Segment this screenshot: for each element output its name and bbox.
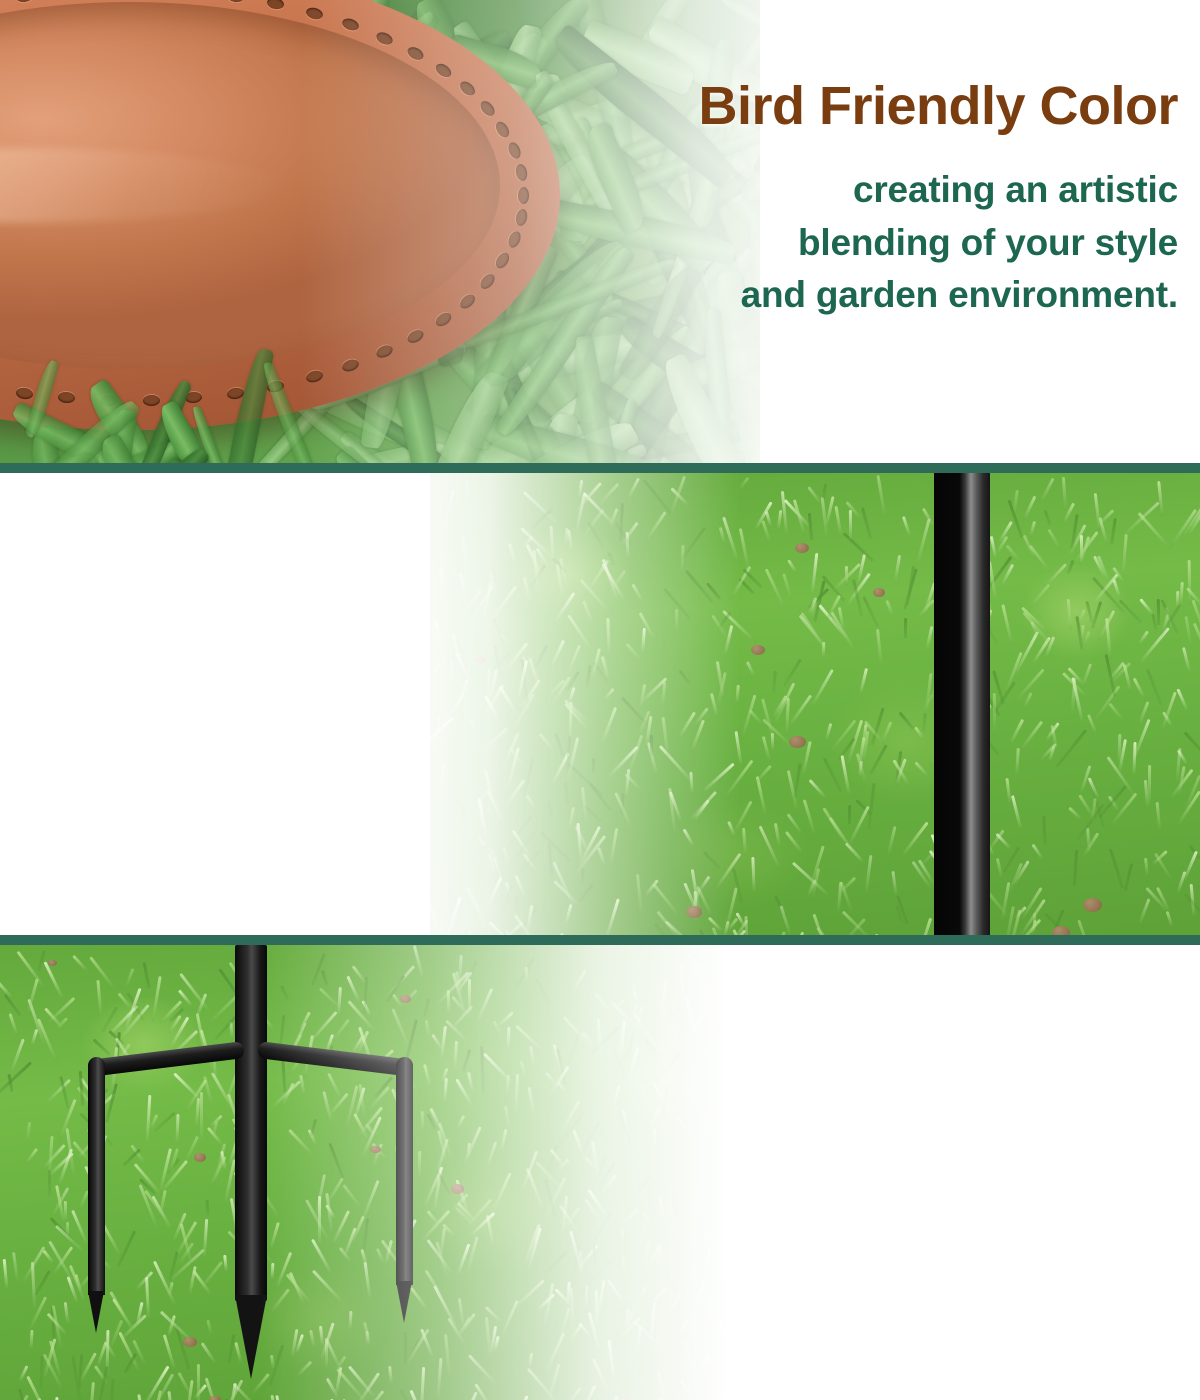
grass-blade: [526, 795, 538, 810]
ground-pebble: [1083, 898, 1102, 912]
grass-blade: [1067, 599, 1073, 629]
grass-blade: [2, 1394, 29, 1400]
grass-blade: [590, 648, 601, 681]
grass-blade: [925, 626, 933, 649]
grass-blade: [517, 1396, 529, 1400]
panel-1-text-block: Bird Friendly Color creating an artistic…: [578, 78, 1178, 322]
grass-blade: [529, 1046, 536, 1068]
grass-blade: [1019, 721, 1042, 751]
grass-blade: [683, 829, 695, 847]
grass-blade: [515, 897, 518, 912]
grass-blade: [10, 1038, 25, 1071]
grass-blade: [1110, 518, 1117, 544]
grass-blade: [638, 1174, 652, 1191]
grass-blade: [876, 629, 883, 667]
grass-blade: [773, 683, 795, 724]
grass-blade: [544, 1332, 565, 1374]
grass-blade: [1177, 871, 1187, 893]
grass-blade: [677, 712, 696, 740]
grass-blade: [638, 1222, 645, 1251]
grass-with-pole-photo: [430, 473, 1200, 935]
grass-blade: [771, 733, 774, 750]
product-infographic: Bird Friendly Color creating an artistic…: [0, 0, 1200, 1400]
grass-blade: [595, 1290, 598, 1331]
ground-pebble: [686, 906, 702, 918]
grass-blade: [675, 609, 678, 633]
grass-blade: [528, 1353, 533, 1368]
grass-blade: [599, 1130, 611, 1148]
grass-blade: [822, 642, 826, 658]
grass-blade: [580, 509, 604, 540]
grass-blade: [865, 855, 873, 893]
grass-blade: [1185, 616, 1193, 647]
grass-blade: [917, 518, 931, 563]
grass-blade: [486, 876, 502, 906]
lawn-grass-background: [430, 473, 1200, 935]
grass-blade: [692, 1281, 705, 1320]
grass-blade: [475, 631, 478, 653]
grass-blade: [1056, 729, 1087, 767]
grass-blade: [543, 1283, 555, 1328]
panel-1-body: creating an artistic blending of your st…: [578, 164, 1178, 322]
grass-blade: [885, 600, 893, 615]
grass-blade: [742, 828, 747, 855]
grass-blade: [1154, 853, 1173, 881]
grass-blade: [1138, 631, 1149, 645]
grass-blade: [801, 741, 811, 777]
prong-left-tip: [88, 1291, 104, 1333]
grass-blade: [1001, 604, 1013, 646]
bowl-drain-hole: [143, 395, 160, 406]
grass-blade: [770, 1040, 780, 1060]
grass-blade: [782, 573, 793, 599]
grass-blade: [1091, 601, 1102, 629]
grass-blade: [559, 1307, 571, 1340]
grass-blade: [685, 1090, 715, 1124]
divider-top: [0, 463, 1200, 473]
grass-blade: [777, 510, 783, 530]
grass-blade: [705, 1049, 720, 1065]
grass-blade: [597, 1019, 602, 1056]
grass-blade: [1176, 790, 1200, 826]
grass-blade: [487, 790, 508, 828]
grass-blade: [449, 888, 453, 911]
grass-blade: [1140, 598, 1154, 615]
grass-blade: [790, 953, 800, 971]
grass-blade: [813, 914, 829, 935]
grass-blade: [863, 596, 880, 627]
grass-blade: [887, 826, 897, 856]
grass-blade: [669, 476, 686, 517]
grass-blade: [677, 1117, 703, 1149]
grass-blade: [649, 1286, 668, 1304]
grass-blade: [825, 496, 835, 528]
grass-blade: [922, 713, 926, 731]
grass-blade: [528, 1087, 536, 1116]
grass-blade: [748, 1003, 766, 1038]
grass-blade: [835, 506, 843, 537]
birdbath-bowl-graphic: [0, 0, 560, 430]
grass-blade: [1083, 631, 1091, 645]
grass-blade: [581, 867, 585, 883]
grass-blade: [1182, 647, 1191, 672]
grass-blade: [755, 765, 772, 783]
grass-blade: [520, 1061, 528, 1079]
grass-blade: [1040, 477, 1054, 501]
grass-blade: [990, 536, 997, 559]
grass-blade: [847, 805, 850, 824]
grass-blade: [469, 717, 477, 735]
grass-blade: [1132, 741, 1136, 774]
grass-blade: [1081, 664, 1092, 688]
grass-blade: [778, 1003, 789, 1038]
grass-blade: [789, 695, 812, 726]
grass-blade: [531, 509, 552, 529]
grass-blade: [1105, 618, 1112, 659]
grass-blade: [703, 851, 720, 869]
grass-blade: [894, 555, 901, 581]
grass-blade: [785, 831, 804, 854]
grass-blade: [442, 694, 465, 725]
grass-blade: [772, 671, 777, 692]
grass-blade: [607, 551, 615, 565]
grass-blade: [1080, 535, 1083, 563]
ground-pebble: [1052, 926, 1070, 935]
grass-blade: [849, 510, 852, 540]
grass-blade: [1048, 529, 1062, 550]
grass-blade: [442, 489, 455, 534]
grass-blade: [597, 483, 619, 506]
grass-blade: [526, 905, 534, 933]
grass-blade: [718, 527, 725, 545]
grass-blade: [1066, 560, 1074, 575]
grass-blade: [642, 628, 647, 653]
grass-blade: [808, 779, 826, 798]
grass-blade: [1133, 677, 1146, 699]
grass-blade: [825, 723, 833, 741]
grass-blade: [641, 1084, 658, 1122]
grass-blade: [1157, 481, 1164, 516]
grass-blade: [1015, 748, 1020, 775]
grass-blade: [1121, 534, 1128, 578]
prong-right-arm: [257, 1041, 410, 1076]
ground-pebble: [795, 543, 809, 553]
grass-blade: [658, 745, 691, 781]
grass-blade: [1062, 477, 1067, 511]
grass-blade: [842, 911, 871, 935]
grass-blade: [737, 476, 749, 490]
panel-1-body-line-2: blending of your style: [578, 217, 1178, 270]
grass-blade: [466, 842, 490, 866]
grass-blade: [489, 1172, 511, 1217]
grass-blade: [690, 719, 705, 752]
grass-blade: [995, 833, 1011, 850]
grass-blade: [548, 843, 554, 877]
prong-center-tip: [235, 1295, 267, 1379]
grass-blade: [1108, 703, 1124, 722]
grass-blade: [622, 1110, 630, 1134]
grass-blade: [638, 1286, 647, 1301]
grass-blade: [787, 559, 798, 573]
feature-panel-high-quality: High Quality heavy duty steel stake make…: [0, 473, 1200, 935]
prong-right-leg: [396, 1057, 413, 1285]
grass-blade: [730, 1078, 737, 1095]
grass-blade: [746, 661, 755, 676]
grass-blade: [681, 527, 706, 560]
grass-blade: [535, 978, 551, 1007]
grass-blade: [449, 740, 459, 770]
grass-blade: [1139, 899, 1151, 924]
prong-center-shaft: [235, 945, 267, 1301]
grass-blade: [547, 1252, 567, 1274]
grass-blade: [718, 1130, 750, 1165]
grass-blade: [1093, 685, 1121, 722]
grass-blade: [540, 831, 571, 862]
grass-blade: [547, 801, 554, 819]
grass-blade: [721, 1299, 745, 1338]
grass-blade: [582, 600, 594, 626]
grass-blade: [1156, 599, 1160, 625]
grass-blade: [708, 1395, 728, 1400]
grass-blade: [3, 994, 21, 1016]
grass-blade: [657, 1372, 670, 1400]
grass-blade: [1193, 622, 1200, 652]
grass-blade: [724, 978, 735, 991]
grass-blade: [901, 822, 929, 858]
ground-pebble: [873, 588, 885, 597]
grass-blade: [609, 828, 618, 867]
grass-blade: [508, 543, 517, 565]
grass-blade: [1124, 863, 1133, 891]
prong-right-tip: [396, 1281, 412, 1323]
grass-blade: [787, 814, 803, 834]
grass-blade: [606, 618, 610, 658]
grass-blade: [579, 883, 594, 902]
grass-blade: [876, 475, 886, 518]
grass-blade: [811, 669, 834, 706]
ground-pebble: [751, 645, 766, 656]
grass-blade: [915, 917, 932, 935]
prong-left-arm: [92, 1041, 245, 1076]
grass-blade: [1023, 496, 1037, 521]
grass-blade: [430, 662, 441, 685]
grass-blade: [1138, 512, 1172, 550]
grass-blade: [473, 779, 477, 794]
grass-blade: [599, 1174, 618, 1198]
grass-blade: [678, 670, 690, 685]
grass-blade: [439, 568, 444, 600]
grass-blade: [738, 1020, 744, 1058]
grass-blade: [703, 1298, 714, 1340]
grass-blade: [807, 486, 822, 504]
grass-blade: [822, 484, 827, 500]
grass-blade: [499, 1129, 507, 1153]
grass-blade: [793, 499, 806, 535]
grass-blade: [448, 784, 469, 816]
grass-blade: [597, 847, 606, 865]
grass-blade: [586, 521, 603, 547]
grass-blade: [9, 1013, 19, 1035]
grass-blade: [736, 685, 741, 705]
grass-blade: [1022, 692, 1032, 709]
grass-blade: [564, 528, 568, 545]
grass-blade: [1109, 849, 1124, 889]
grass-blade: [1073, 850, 1078, 886]
grass-blade: [677, 1317, 689, 1335]
three-prong-stake-graphic: [30, 945, 490, 1400]
grass-blade: [507, 1027, 511, 1050]
grass-blade: [786, 698, 791, 735]
grass-blade: [902, 516, 911, 536]
grass-blade: [554, 733, 564, 756]
grass-blade: [1029, 583, 1051, 608]
grass-blade: [904, 618, 907, 638]
grass-blade: [670, 1212, 684, 1250]
grass-blade: [693, 1265, 697, 1283]
grass-blade: [914, 762, 928, 777]
panel-1-body-line-1: creating an artistic: [578, 164, 1178, 217]
grass-blade: [749, 709, 764, 725]
grass-blade: [1166, 911, 1174, 927]
grass-blade: [538, 733, 556, 753]
grass-blade: [549, 525, 555, 571]
grass-blade: [553, 880, 579, 906]
grass-blade: [690, 772, 694, 793]
grass-blade: [449, 660, 455, 689]
grass-blade: [751, 857, 755, 891]
grass-blade: [633, 1364, 654, 1385]
divider-bottom: [0, 935, 1200, 945]
grass-blade: [578, 1121, 601, 1158]
grass-blade: [1077, 920, 1093, 935]
grass-blade: [619, 1207, 639, 1226]
grass-blade: [699, 1302, 703, 1340]
grass-blade: [477, 727, 508, 756]
grass-blade: [822, 807, 846, 844]
grass-blade: [631, 584, 643, 602]
grass-blade: [654, 923, 667, 935]
panel-1-heading: Bird Friendly Color: [578, 78, 1178, 134]
grass-blade: [635, 1326, 642, 1355]
ground-pebble: [476, 656, 486, 663]
grass-blade: [636, 874, 643, 916]
grass-blade: [514, 1074, 519, 1117]
grass-blade: [550, 640, 565, 667]
grass-blade: [1044, 510, 1052, 525]
grass-blade: [802, 799, 815, 835]
grass-blade: [610, 1085, 620, 1112]
steel-stake-pole-graphic: [934, 473, 990, 935]
grass-blade: [892, 871, 898, 895]
grass-blade: [811, 553, 819, 594]
grass-blade: [563, 1387, 581, 1400]
grass-blade: [690, 790, 717, 819]
grass-blade: [526, 1168, 545, 1212]
grass-blade: [1068, 807, 1083, 821]
grass-blade: [774, 822, 781, 846]
grass-blade: [621, 1228, 624, 1243]
grass-blade: [504, 1105, 511, 1130]
grass-blade: [588, 783, 611, 812]
grass-blade: [1176, 591, 1180, 607]
grass-blade: [861, 507, 872, 538]
grass-blade: [432, 717, 441, 760]
grass-blade: [602, 688, 614, 702]
grass-blade: [713, 1092, 719, 1112]
grass-blade: [859, 668, 868, 694]
grass-blade: [600, 707, 617, 746]
grass-blade: [724, 625, 734, 654]
grass-blade: [993, 693, 996, 734]
grass-blade: [1112, 579, 1120, 597]
grass-blade: [725, 1121, 729, 1164]
grass-blade: [1146, 669, 1163, 707]
grass-blade: [1098, 785, 1127, 819]
grass-blade: [592, 758, 595, 773]
grass-blade: [658, 1197, 666, 1227]
grass-blade: [1006, 778, 1012, 804]
grass-blade: [697, 1187, 701, 1230]
grass-blade: [720, 1321, 723, 1345]
grass-blade: [661, 681, 666, 706]
grass-blade: [708, 916, 723, 931]
grass-blade: [739, 528, 750, 571]
grass-blade: [605, 899, 620, 935]
grass-blade: [570, 1288, 575, 1331]
grass-blade: [466, 886, 488, 929]
feature-panel-bird-friendly-color: Bird Friendly Color creating an artistic…: [0, 0, 1200, 463]
grass-blade: [643, 479, 673, 515]
grass-blade: [535, 645, 548, 668]
grass-blade: [653, 1129, 656, 1149]
grass-blade: [686, 953, 703, 970]
grass-blade: [845, 566, 848, 585]
grass-blade: [899, 711, 915, 729]
grass-blade: [644, 511, 666, 542]
grass-blade: [1032, 844, 1044, 860]
grass-blade: [808, 513, 813, 540]
grass-blade: [788, 1274, 800, 1316]
grass-blade: [650, 735, 653, 756]
grass-blade: [1184, 732, 1200, 753]
grass-blade: [1014, 631, 1039, 675]
grass-blade: [1009, 718, 1024, 744]
grass-blade: [568, 807, 575, 830]
grass-blade: [1011, 795, 1022, 828]
grass-blade: [0, 1061, 32, 1095]
grass-blade: [721, 1050, 726, 1084]
grass-blade: [1180, 582, 1185, 606]
grass-blade: [12, 1252, 19, 1282]
grass-blade: [761, 1087, 776, 1105]
grass-blade: [627, 478, 640, 499]
grass-blade: [1188, 560, 1192, 605]
grass-blade: [869, 744, 887, 774]
grass-blade: [563, 782, 568, 806]
panel-1-body-line-3: and garden environment.: [578, 269, 1178, 322]
grass-blade: [607, 1279, 625, 1304]
grass-blade: [450, 572, 454, 590]
grass-blade: [785, 1344, 790, 1373]
grass-blade: [765, 511, 772, 526]
prong-left-leg: [88, 1057, 105, 1295]
grass-blade: [465, 480, 468, 499]
grass-with-prong-stake-photo: [0, 945, 800, 1400]
grass-blade: [1144, 858, 1149, 876]
ground-pebble: [789, 736, 806, 748]
grass-blade: [823, 758, 842, 793]
grass-blade: [1043, 816, 1047, 845]
